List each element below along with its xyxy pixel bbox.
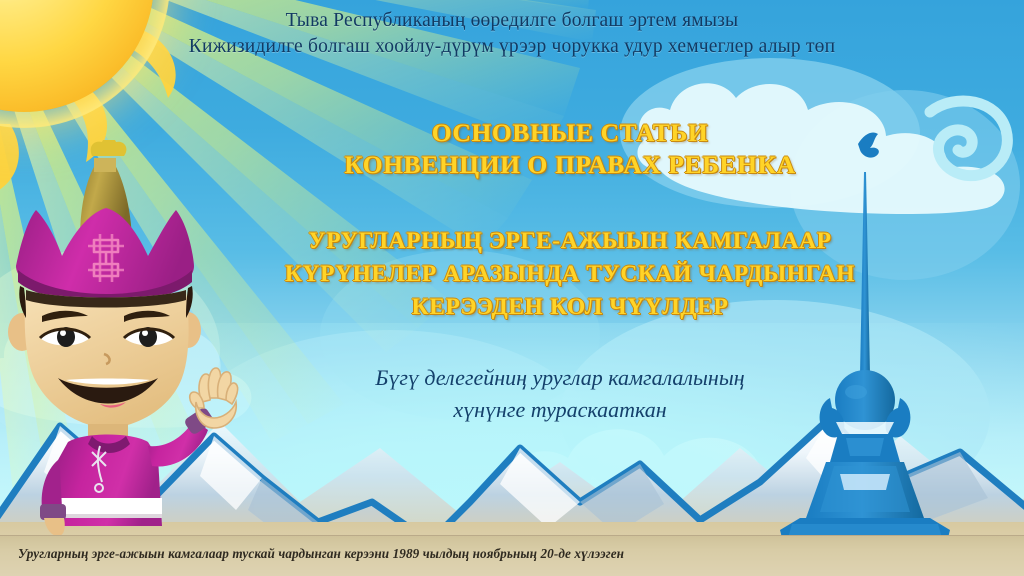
subtitle: Бүгү делегейниң уруглар камгалалының хүн… [230,362,890,426]
caption-text: Уругларның эрге-ажыын камгалаар тускай ч… [18,546,624,562]
header-line-2: Кижизидилге болгаш хоойлу-дүрүм үрээр чо… [0,34,1024,60]
title-ru-line-2: КОНВЕНЦИИ О ПРАВАХ РЕБЕНКА [200,149,940,181]
center-of-asia-obelisk-icon [774,126,1024,576]
title-tuvan: УРУГЛАРНЫҢ ЭРГЕ-АЖЫЫН КАМГАЛААР КҮРҮНЕЛЕ… [190,225,950,324]
title-ru-line-1: ОСНОВНЫЕ СТАТЬИ [200,117,940,149]
title-tv-line-2: КҮРҮНЕЛЕР АРАЗЫНДА ТУСКАЙ ЧАРДЫНГАН [190,258,950,291]
tuvan-boy-waving-icon [0,140,246,540]
organization-header: Тыва Республиканың өөредилге болгаш эрте… [0,8,1024,60]
page-title: ОСНОВНЫЕ СТАТЬИ КОНВЕНЦИИ О ПРАВАХ РЕБЕН… [200,117,940,181]
title-tv-line-1: УРУГЛАРНЫҢ ЭРГЕ-АЖЫЫН КАМГАЛААР [190,225,950,258]
title-tv-line-3: КЕРЭЭДЕН КОЛ ЧҮҮЛДЕР [190,291,950,324]
slide-canvas: Тыва Республиканың өөредилге болгаш эрте… [0,0,1024,576]
subtitle-line-2: хүнүнге тураскааткан [230,394,890,426]
caption-bar: Уругларның эрге-ажыын камгалаар тускай ч… [0,535,1024,576]
subtitle-line-1: Бүгү делегейниң уруглар камгалалының [230,362,890,394]
header-line-1: Тыва Республиканың өөредилге болгаш эрте… [0,8,1024,34]
